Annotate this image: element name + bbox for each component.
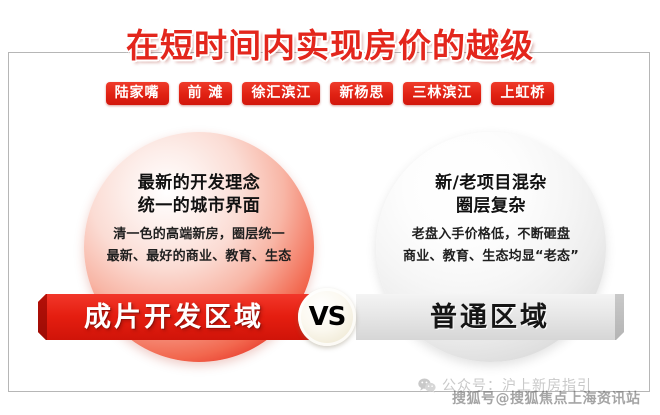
vs-badge: VS xyxy=(298,288,356,346)
district-tag-shanghongqiao[interactable]: 上虹桥 xyxy=(491,82,554,105)
district-tag-xuhuibinjiang[interactable]: 徐汇滨江 xyxy=(242,82,320,105)
district-tag-sanlinbinjiang[interactable]: 三林滨江 xyxy=(403,82,481,105)
left-banner-ribbon: 成片开发区域 xyxy=(38,294,310,340)
right-sphere-text-block: 新/老项目混杂 圈层复杂 老盘入手价格低，不断砸盘 商业、教育、生态均显“老态” xyxy=(366,172,616,267)
vs-badge-label: VS xyxy=(309,304,346,330)
left-sphere-text-block: 最新的开发理念 统一的城市界面 清一色的高端新房，圈层统一 最新、最好的商业、教… xyxy=(74,172,324,267)
sohu-watermark-text: 搜狐号@搜狐焦点上海资讯站 xyxy=(452,391,641,407)
poster-title: 在短时间内实现房价的越级 xyxy=(0,22,660,68)
left-subline-2: 最新、最好的商业、教育、生态 xyxy=(74,246,324,267)
poster-title-text: 在短时间内实现房价的越级 xyxy=(126,29,534,62)
sohu-watermark: 搜狐号@搜狐焦点上海资讯站 xyxy=(452,388,641,408)
left-banner-label: 成片开发区域 xyxy=(84,304,264,331)
left-headline-2: 统一的城市界面 xyxy=(74,195,324,218)
district-tag-list: 陆家嘴 前 滩 徐汇滨江 新杨思 三林滨江 上虹桥 xyxy=(0,82,660,105)
poster-canvas: 在短时间内实现房价的越级 陆家嘴 前 滩 徐汇滨江 新杨思 三林滨江 上虹桥 最… xyxy=(0,0,660,415)
right-headline-2: 圈层复杂 xyxy=(366,195,616,218)
left-headline-1: 最新的开发理念 xyxy=(74,172,324,195)
right-banner-label: 普通区域 xyxy=(430,304,550,331)
wechat-icon xyxy=(418,378,436,393)
left-subline-1: 清一色的高端新房，圈层统一 xyxy=(74,224,324,245)
district-tag-qiantan[interactable]: 前 滩 xyxy=(179,82,233,105)
right-headline-1: 新/老项目混杂 xyxy=(366,172,616,195)
district-tag-xinyangsi[interactable]: 新杨思 xyxy=(330,82,393,105)
right-banner-ribbon: 普通区域 xyxy=(356,294,624,340)
right-subline-1: 老盘入手价格低，不断砸盘 xyxy=(366,224,616,245)
right-subline-2: 商业、教育、生态均显“老态” xyxy=(366,246,616,267)
district-tag-lujiazui[interactable]: 陆家嘴 xyxy=(106,82,169,105)
